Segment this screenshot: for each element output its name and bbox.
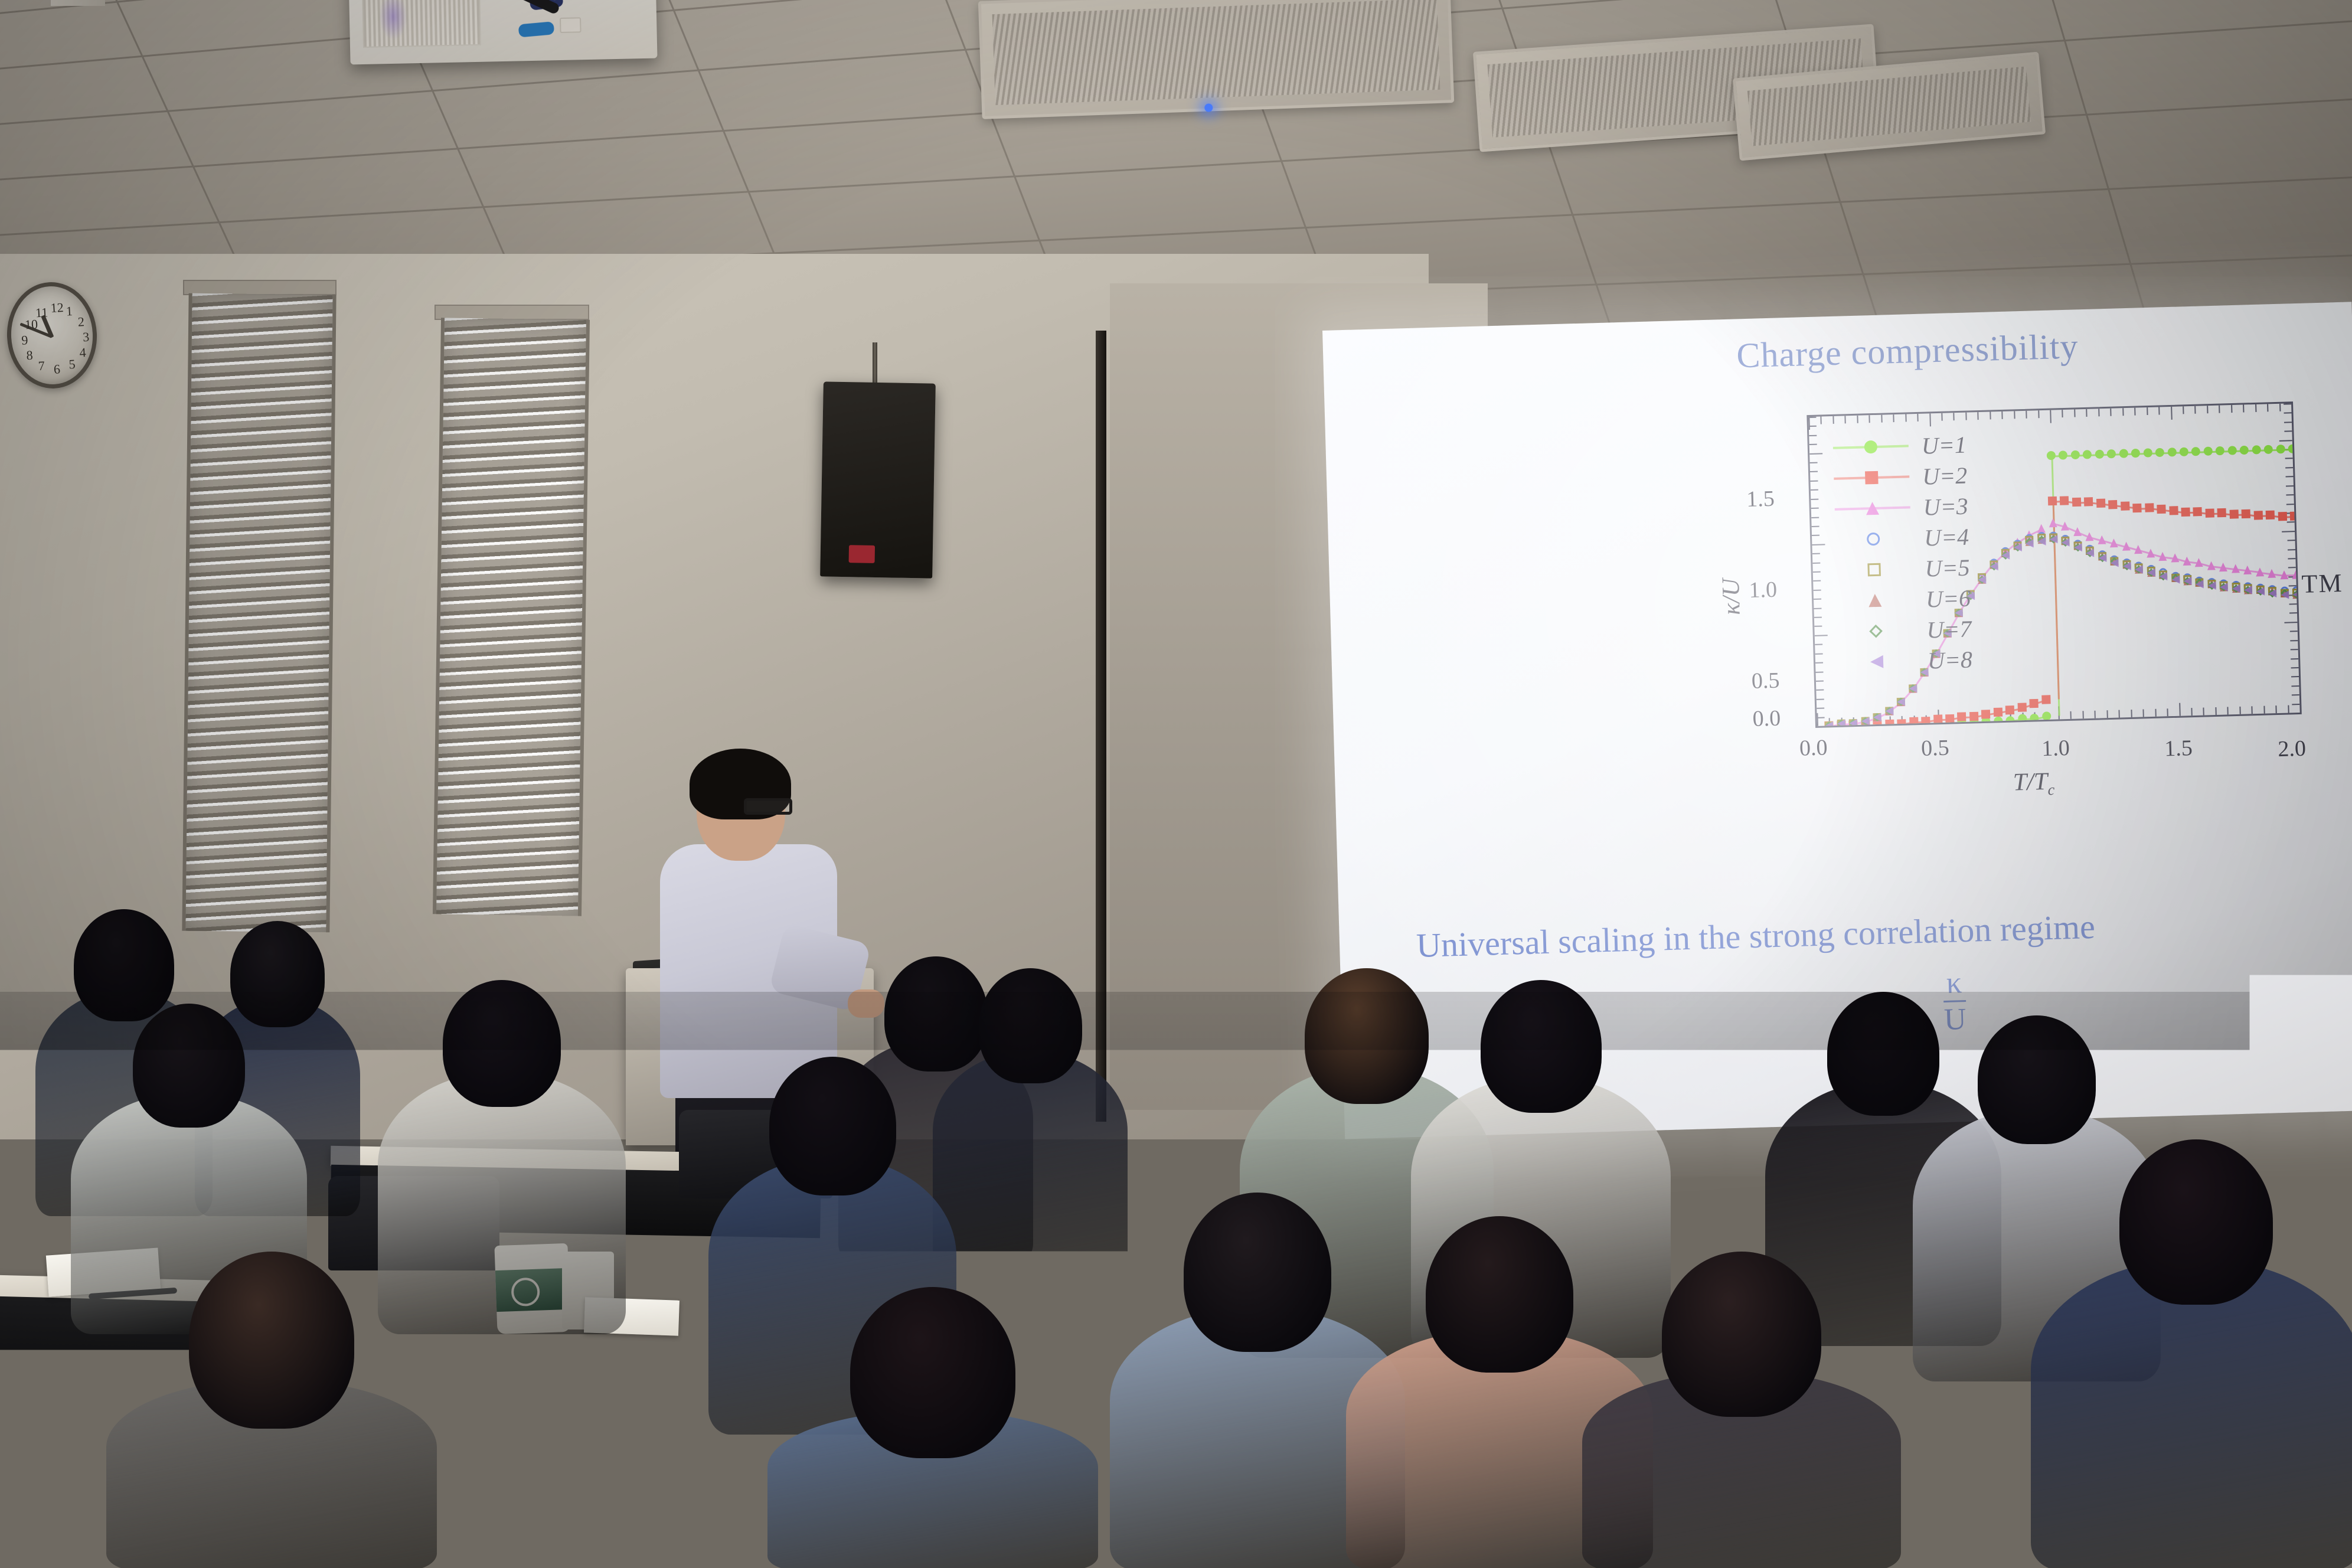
data-point <box>1897 719 1906 726</box>
y-axis-tick <box>1810 471 1818 472</box>
projector-cable-cyan <box>518 21 555 37</box>
data-marker-filled-circle <box>2252 445 2260 454</box>
y-axis-tick <box>1809 453 1822 455</box>
ceiling-ac-unit-1 <box>978 0 1454 119</box>
data-marker-filled-triangle <box>2049 518 2057 527</box>
transition-jump-line <box>2053 501 2060 700</box>
data-point <box>2268 569 2276 577</box>
data-marker-open-left-triangle <box>2207 582 2216 590</box>
data-point <box>2084 497 2093 506</box>
data-point <box>2013 543 2021 551</box>
data-point <box>2059 450 2067 459</box>
data-marker-filled-circle <box>2018 714 2027 723</box>
data-point <box>2135 566 2143 574</box>
x-axis-tick <box>2195 406 2196 414</box>
data-point <box>2240 446 2249 455</box>
data-marker-filled-circle <box>2042 711 2051 720</box>
data-marker-filled-square <box>2005 705 2014 714</box>
audience-head <box>1662 1252 1821 1417</box>
lecture-hall-photo: 121234567891011 Charge compressibility 1… <box>0 0 2352 1568</box>
data-point <box>2232 584 2240 593</box>
data-point <box>2229 509 2238 518</box>
x-axis-tick <box>2026 411 2027 419</box>
data-point <box>2264 445 2273 454</box>
audience-head <box>1184 1193 1331 1352</box>
x-axis-tick <box>1893 414 1894 422</box>
data-point <box>1933 714 1942 723</box>
x-axis-tick <box>2122 408 2124 416</box>
data-marker-open-triangle <box>1868 594 1882 607</box>
y-axis-tick <box>2284 413 2292 414</box>
data-point <box>2108 500 2117 509</box>
y-axis-tick <box>2285 467 2293 468</box>
data-point <box>2098 554 2106 562</box>
data-marker-open-left-triangle <box>2086 548 2094 557</box>
clock-numeral-6: 6 <box>53 361 60 377</box>
data-point <box>2083 450 2092 459</box>
legend-item-U-8[interactable]: U=8 <box>1838 643 1972 678</box>
series-line-segment <box>1890 724 1902 726</box>
data-point <box>2169 506 2178 515</box>
audience-head <box>1426 1216 1573 1373</box>
data-marker-filled-circle <box>2119 449 2128 458</box>
series-line-segment <box>1890 724 1902 726</box>
data-marker-filled-square <box>1994 707 2003 716</box>
data-marker-filled-square <box>2157 504 2165 513</box>
x-axis-tick <box>2155 709 2156 717</box>
data-marker-filled-circle <box>2030 714 2039 723</box>
y-axis-tick <box>1811 517 1819 518</box>
data-point <box>2131 449 2140 458</box>
data-point <box>2073 543 2082 551</box>
projector-cable-black-2 <box>492 0 560 15</box>
data-marker-filled-square <box>2290 512 2299 521</box>
data-point <box>2017 703 2026 712</box>
plot-frame: U=1U=2U=3U=4U=5U=6U=7U=8 <box>1807 401 2301 728</box>
audience-member-12 <box>2031 1139 2352 1568</box>
data-marker-open-left-triangle <box>2025 540 2033 548</box>
y-axis-tick <box>2292 694 2299 695</box>
data-marker-filled-triangle <box>2085 532 2093 541</box>
legend-item-U-7[interactable]: U=7 <box>1838 613 1972 648</box>
data-marker-open-left-triangle <box>1885 707 1893 716</box>
data-point <box>2107 449 2116 458</box>
legend-item-U-5[interactable]: U=5 <box>1836 552 1970 586</box>
data-marker-filled-triangle <box>2122 542 2130 551</box>
data-marker-open-left-triangle <box>1873 713 1881 721</box>
data-marker-filled-triangle <box>2061 522 2069 531</box>
y-axis-tick <box>1813 580 1821 582</box>
series-line-segment <box>1902 723 1914 726</box>
y-axis-tick <box>1815 671 1823 672</box>
speaker-hanging-chain <box>873 342 877 385</box>
audience-head <box>1305 968 1429 1104</box>
ac-grille <box>1747 67 2031 146</box>
data-point <box>2072 498 2081 507</box>
data-marker-filled-square <box>2060 496 2069 505</box>
legend-item-U-1[interactable]: U=1 <box>1832 429 1966 463</box>
data-marker-open-left-triangle <box>2159 572 2167 580</box>
x-axis-tick <box>2050 410 2052 423</box>
y-axis-tick <box>2291 685 2299 687</box>
legend-label: U=3 <box>1923 492 1968 521</box>
legend-item-U-3[interactable]: U=3 <box>1834 491 1968 525</box>
data-point <box>2030 714 2039 723</box>
x-axis-tick <box>2191 708 2192 716</box>
data-marker-filled-triangle <box>2098 535 2106 544</box>
x-axis-tick <box>2215 707 2216 715</box>
x-axis-tick <box>2074 409 2075 417</box>
data-marker-filled-square <box>2048 496 2057 505</box>
x-axis-tick <box>2098 409 2099 416</box>
y-axis-tick <box>1816 680 1824 681</box>
x-axis-tick <box>2279 404 2281 411</box>
clock-numeral-9: 9 <box>21 332 28 348</box>
x-axis-tick <box>2014 411 2015 419</box>
data-marker-open-left-triangle <box>2268 589 2276 597</box>
slide-subtitle: Universal scaling in the strong correlat… <box>1416 907 2095 965</box>
data-point <box>2134 545 2142 554</box>
data-point <box>2159 572 2167 580</box>
x-axis-tick <box>2252 706 2253 714</box>
y-axis-tick <box>2284 622 2297 623</box>
y-axis-tick <box>2287 521 2295 522</box>
data-point <box>2121 502 2129 511</box>
data-marker-filled-circle <box>2047 451 2056 460</box>
audience-member-15 <box>1582 1252 1901 1568</box>
x-axis-tick <box>2291 403 2293 416</box>
data-point <box>2037 537 2046 545</box>
x-axis-tick <box>2239 707 2240 714</box>
data-marker-filled-square <box>2072 498 2081 507</box>
data-marker-filled-square <box>2132 503 2141 512</box>
data-point <box>2062 538 2070 547</box>
y-axis-tick <box>1809 435 1817 436</box>
x-tick-label-1.0: 1.0 <box>2041 735 2070 762</box>
slide-title: Charge compressibility <box>1736 326 2079 376</box>
y-axis-tick <box>1811 508 1819 509</box>
data-point <box>2025 540 2033 548</box>
legend-label: U=1 <box>1921 430 1966 459</box>
data-point <box>2145 503 2154 512</box>
x-axis-tick <box>2070 711 2072 719</box>
data-point <box>2132 503 2141 512</box>
data-marker-filled-triangle <box>2292 570 2300 579</box>
data-point <box>2042 711 2051 720</box>
data-marker-filled-triangle <box>2219 563 2227 571</box>
data-marker-open-left-triangle <box>2098 554 2106 562</box>
legend-item-U-2[interactable]: U=2 <box>1834 460 1968 494</box>
data-point <box>2171 553 2179 562</box>
data-marker-filled-circle <box>2131 449 2140 458</box>
x-axis-tick <box>2243 404 2244 412</box>
data-marker-open-left-triangle <box>2073 543 2082 551</box>
audience-head <box>769 1057 896 1195</box>
x-axis-tick <box>1978 412 1979 420</box>
data-marker-filled-square <box>2266 511 2275 520</box>
data-marker-open-left-triangle <box>2256 587 2264 596</box>
x-axis-tick <box>1929 413 1931 426</box>
data-marker-filled-triangle <box>2255 567 2263 576</box>
x-axis-tick <box>2171 407 2173 420</box>
data-point <box>2193 507 2202 516</box>
data-point <box>2098 535 2106 544</box>
y-axis-tick <box>1808 417 1816 418</box>
data-marker-open-left-triangle <box>2111 558 2119 567</box>
y-axis-tick <box>1815 653 1823 654</box>
data-marker-filled-triangle <box>2243 566 2252 574</box>
legend-label: U=2 <box>1922 461 1968 490</box>
chart-figure: 1.5 1.0 0.5 0.0 κ/U U=1U=2U=3U=4U=5U=6U=… <box>1700 396 2314 808</box>
series-line-segment <box>1998 721 2011 723</box>
data-marker-filled-triangle <box>2158 551 2167 560</box>
x-axis-tick <box>1845 416 1846 423</box>
y-axis-tick <box>2292 704 2299 705</box>
x-axis-tick <box>1941 413 1942 421</box>
data-marker-filled-triangle <box>2268 569 2276 577</box>
data-marker-filled-triangle <box>2110 538 2118 547</box>
data-marker-open-left-triangle <box>2049 535 2057 543</box>
x-axis-title-sub: c <box>2047 781 2054 798</box>
series-line-segment <box>1926 723 1938 725</box>
data-marker-filled-triangle <box>2195 558 2203 567</box>
data-point <box>2041 695 2050 704</box>
data-point <box>2005 705 2014 714</box>
data-marker-open-left-triangle <box>2037 537 2046 545</box>
x-axis-tick <box>1990 411 1991 419</box>
x-axis-tick <box>2147 407 2148 415</box>
data-marker-open-left-triangle <box>2244 586 2252 594</box>
window-blind-left[interactable] <box>182 293 336 933</box>
y-axis-tick <box>2284 403 2291 404</box>
data-marker-open-left-triangle <box>1897 698 1905 706</box>
y-axis-tick <box>1813 571 1821 573</box>
x-axis-tick <box>2299 700 2300 713</box>
data-marker-filled-triangle <box>2207 561 2215 570</box>
series-line-segment <box>1877 724 1890 726</box>
x-axis-tick <box>2183 406 2184 414</box>
x-axis-tick <box>1905 414 1906 422</box>
y-axis-tick <box>1817 708 1824 709</box>
data-point <box>2171 575 2180 583</box>
data-marker-filled-triangle <box>1866 502 1879 515</box>
chart-legend: U=1U=2U=3U=4U=5U=6U=7U=8 <box>1832 429 1972 678</box>
data-marker-filled-square <box>2205 508 2214 517</box>
x-axis-tick <box>2095 711 2096 718</box>
data-marker-filled-square <box>2253 511 2262 520</box>
series-line-segment <box>1962 721 1974 724</box>
data-marker-open-left-triangle <box>2171 575 2180 583</box>
legend-swatch <box>1839 655 1915 669</box>
data-point <box>2018 714 2027 723</box>
data-marker-filled-circle <box>2203 447 2212 456</box>
audience-head <box>525 1358 679 1517</box>
data-point <box>2242 509 2250 518</box>
data-marker-filled-square <box>2121 502 2129 511</box>
data-point <box>2119 449 2128 458</box>
audience-head <box>1481 980 1602 1113</box>
data-marker-filled-circle <box>2005 716 2014 725</box>
clock-numeral-8: 8 <box>26 348 33 364</box>
slide-corner-text: TM <box>2301 568 2343 599</box>
y-axis-tick <box>1814 626 1822 627</box>
y-axis-tick <box>2291 667 2299 668</box>
y-axis-tick <box>1814 607 1821 609</box>
data-marker-open-left-triangle <box>1861 717 1869 725</box>
x-axis-tick <box>2263 706 2265 714</box>
x-axis-tick <box>2062 410 2063 417</box>
data-point <box>2207 582 2216 590</box>
ceiling-projector[interactable] <box>348 0 657 64</box>
data-point <box>1909 717 1918 726</box>
data-marker-open-left-triangle <box>2196 580 2204 589</box>
y-axis-tick <box>2286 494 2294 495</box>
y-axis-tick <box>1812 544 1825 545</box>
y-axis-tick <box>1810 462 1818 463</box>
data-point <box>2231 564 2239 573</box>
legend-item-U-4[interactable]: U=4 <box>1835 521 1969 556</box>
y-axis-tick <box>2282 531 2295 533</box>
data-point <box>1994 717 2003 726</box>
legend-label: U=5 <box>1925 553 1970 582</box>
data-marker-open-left-triangle <box>2147 569 2155 577</box>
data-point <box>2266 511 2275 520</box>
x-axis-tick <box>2219 406 2220 413</box>
x-axis-tick <box>2110 409 2111 416</box>
data-marker-open-left-triangle <box>1825 721 1833 726</box>
data-point <box>1921 717 1930 726</box>
legend-swatch <box>1834 471 1910 485</box>
legend-item-U-6[interactable]: U=6 <box>1837 583 1971 617</box>
data-point <box>2196 580 2204 589</box>
y-tick-label-0.5: 0.5 <box>1751 668 1780 694</box>
data-marker-open-diamond <box>1869 625 1882 638</box>
data-marker-filled-square <box>1885 720 1894 726</box>
y-axis-tick <box>1809 444 1817 445</box>
data-marker-filled-square <box>2278 512 2286 521</box>
legend-label: U=8 <box>1927 645 1972 674</box>
y-axis-tick <box>1812 535 1819 536</box>
x-axis-tick <box>2231 405 2232 413</box>
ac-status-led <box>1204 103 1213 112</box>
data-point <box>2147 569 2155 577</box>
legend-label: U=6 <box>1925 584 1971 613</box>
y-axis-tick <box>2289 613 2297 614</box>
y-axis-tick <box>2290 631 2298 632</box>
y-axis-tick <box>2291 649 2298 650</box>
y-axis-tick <box>2288 540 2295 541</box>
data-point <box>2005 716 2014 725</box>
x-axis-tick <box>1857 416 1858 423</box>
data-point <box>2183 577 2191 585</box>
data-marker-open-left-triangle <box>2292 590 2300 599</box>
y-axis-tick <box>1814 599 1821 600</box>
y-axis-tick <box>2284 422 2292 423</box>
data-marker-open-left-triangle <box>2135 566 2143 574</box>
data-point <box>1990 562 1998 570</box>
series-line-segment <box>1986 721 1998 723</box>
y-axis-tick <box>2286 476 2294 477</box>
data-point <box>2047 451 2056 460</box>
data-point <box>2288 445 2297 453</box>
y-axis-tick <box>2284 430 2292 432</box>
data-marker-filled-square <box>2096 499 2105 508</box>
data-point <box>1837 719 1845 726</box>
data-point <box>2268 589 2276 597</box>
series-line-segment <box>1950 722 1962 724</box>
data-point <box>2122 542 2130 551</box>
data-marker-filled-triangle <box>2134 545 2142 554</box>
projector-mount-arm <box>51 0 105 6</box>
legend-swatch <box>1838 624 1914 638</box>
x-axis-tick <box>1817 713 1818 726</box>
y-axis-tick <box>2286 485 2294 486</box>
data-marker-filled-circle <box>2191 447 2200 456</box>
data-marker-filled-circle <box>2276 445 2285 453</box>
y-axis-tick <box>2291 676 2299 677</box>
data-point <box>1873 713 1881 721</box>
data-marker-filled-circle <box>2059 450 2067 459</box>
x-axis-tick <box>2275 705 2276 713</box>
data-marker-filled-square <box>2181 507 2190 516</box>
data-point <box>2217 508 2226 517</box>
x-tick-label-2.0: 2.0 <box>2278 736 2307 762</box>
clock-numeral-7: 7 <box>38 358 45 374</box>
data-point <box>2290 512 2299 521</box>
data-point <box>1849 719 1857 726</box>
window-blind-right[interactable] <box>433 318 590 916</box>
audience-member-18 <box>449 1358 756 1568</box>
audience-head <box>850 1287 1015 1458</box>
speaker-brand-badge <box>849 545 876 563</box>
y-axis-tick <box>1817 698 1824 700</box>
x-axis-tick <box>2227 707 2229 714</box>
y-axis-tick <box>1817 717 1825 718</box>
data-point <box>1978 575 1986 583</box>
data-point <box>2280 570 2288 579</box>
x-axis-tick <box>2203 708 2204 716</box>
data-point <box>2191 447 2200 456</box>
clock-numeral-2: 2 <box>77 314 84 330</box>
data-point <box>1861 717 1869 725</box>
data-marker-filled-square <box>1933 714 1942 723</box>
data-point <box>2205 508 2214 517</box>
y-axis-tick <box>1815 644 1822 645</box>
data-point <box>2049 535 2057 543</box>
x-axis-tick <box>2255 404 2256 412</box>
y-axis-tick <box>1812 553 1820 554</box>
series-line-segment <box>1974 721 1987 724</box>
y-tick-label-1.0: 1.0 <box>1749 577 1778 603</box>
y-axis-tick <box>1814 617 1822 618</box>
data-point <box>2111 558 2119 567</box>
x-axis-tick <box>2207 406 2208 413</box>
y-axis-tick <box>1809 426 1817 427</box>
x-axis-tick <box>2143 709 2144 717</box>
data-point <box>2096 499 2105 508</box>
data-point <box>2110 538 2118 547</box>
data-point <box>2143 448 2152 457</box>
data-point <box>1969 711 1978 720</box>
data-point <box>2220 583 2228 592</box>
data-marker-filled-circle <box>2167 447 2176 456</box>
audience-head <box>979 968 1082 1083</box>
legend-swatch <box>1835 532 1912 546</box>
presenter-glasses <box>744 798 792 815</box>
x-axis-tick <box>2167 708 2168 716</box>
data-marker-open-left-triangle <box>2013 543 2021 551</box>
data-marker-filled-circle <box>2083 450 2092 459</box>
